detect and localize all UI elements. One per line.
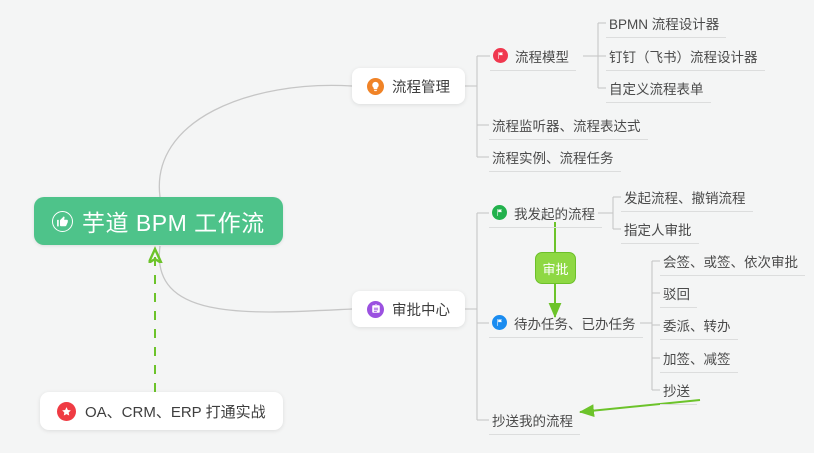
node-custom-form[interactable]: 自定义流程表单: [606, 73, 711, 103]
node-add-remove-sign[interactable]: 加签、减签: [660, 343, 738, 373]
root-node[interactable]: 芋道 BPM 工作流: [34, 197, 283, 245]
node-label-todo-done: 待办任务、已办任务: [514, 313, 636, 333]
flag-icon: [493, 48, 508, 63]
node-cc-my-process[interactable]: 抄送我的流程: [489, 405, 580, 435]
node-label-start-cancel-process: 发起流程、撤销流程: [624, 187, 746, 207]
link-root-to-approval-center: [159, 246, 352, 312]
mindmap-canvas: 芋道 BPM 工作流 流程管理 审批中心 流程模型 流程监听器、流程表达式 流程: [0, 0, 814, 453]
node-dingtalk-designer[interactable]: 钉钉（飞书）流程设计器: [606, 41, 765, 71]
callout-node[interactable]: OA、CRM、ERP 打通实战: [40, 392, 283, 430]
annotation-chip-approval: 审批: [535, 252, 576, 284]
node-cc[interactable]: 抄送: [660, 375, 697, 405]
flag-icon: [492, 315, 507, 330]
node-delegate-transfer[interactable]: 委派、转办: [660, 310, 738, 340]
clipboard-icon: [367, 301, 384, 318]
node-label-countersign: 会签、或签、依次审批: [663, 251, 798, 271]
thumbs-up-icon: [52, 211, 73, 232]
branch-node-process-management[interactable]: 流程管理: [352, 68, 465, 104]
node-reject[interactable]: 驳回: [660, 278, 697, 308]
star-icon: [57, 402, 76, 421]
flag-icon: [492, 205, 507, 220]
node-label-process-listener: 流程监听器、流程表达式: [492, 115, 641, 135]
node-label-cc-my-process: 抄送我的流程: [492, 410, 573, 430]
root-label: 芋道 BPM 工作流: [82, 204, 265, 238]
branch-label-approval-center: 审批中心: [392, 299, 450, 320]
branch-node-approval-center[interactable]: 审批中心: [352, 291, 465, 327]
node-label-dingtalk-designer: 钉钉（飞书）流程设计器: [609, 46, 758, 66]
node-countersign[interactable]: 会签、或签、依次审批: [660, 246, 805, 276]
node-label-add-remove-sign: 加签、减签: [663, 348, 731, 368]
branch-label-process-management: 流程管理: [392, 76, 450, 97]
node-assignee-approve[interactable]: 指定人审批: [621, 214, 699, 244]
node-process-model[interactable]: 流程模型: [490, 41, 576, 71]
node-label-process-instance: 流程实例、流程任务: [492, 147, 614, 167]
node-label-cc: 抄送: [663, 380, 690, 400]
node-label-custom-form: 自定义流程表单: [609, 78, 704, 98]
node-label-bpmn-designer: BPMN 流程设计器: [609, 13, 719, 33]
node-start-cancel-process[interactable]: 发起流程、撤销流程: [621, 182, 753, 212]
node-todo-done[interactable]: 待办任务、已办任务: [489, 308, 643, 338]
node-label-my-initiated: 我发起的流程: [514, 203, 595, 223]
callout-label: OA、CRM、ERP 打通实战: [85, 401, 266, 422]
node-label-delegate-transfer: 委派、转办: [663, 315, 731, 335]
node-label-process-model: 流程模型: [515, 46, 569, 66]
link-root-to-process-management: [159, 85, 352, 197]
node-label-reject: 驳回: [663, 283, 690, 303]
node-process-instance[interactable]: 流程实例、流程任务: [489, 142, 621, 172]
node-bpmn-designer[interactable]: BPMN 流程设计器: [606, 8, 726, 38]
node-process-listener[interactable]: 流程监听器、流程表达式: [489, 110, 648, 140]
node-label-assignee-approve: 指定人审批: [624, 219, 692, 239]
annotation-chip-approval-label: 审批: [542, 259, 568, 278]
lightbulb-icon: [367, 78, 384, 95]
node-my-initiated[interactable]: 我发起的流程: [489, 198, 602, 228]
